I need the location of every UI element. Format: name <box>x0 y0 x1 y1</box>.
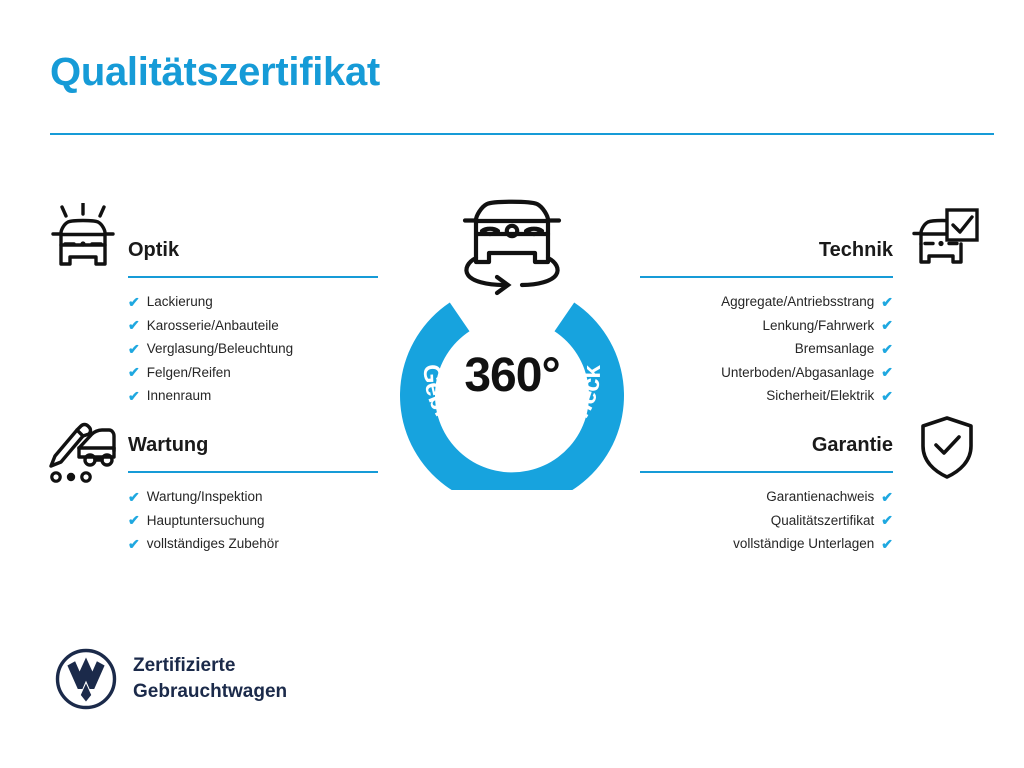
section-divider-technik <box>640 276 893 278</box>
list-item-label: Lackierung <box>147 290 213 314</box>
section-title-technik: Technik <box>640 238 893 262</box>
list-item-label: vollständige Unterlagen <box>733 532 874 556</box>
check-icon: ✔ <box>128 318 140 332</box>
page-title: Qualitätszertifikat <box>50 52 380 92</box>
check-icon: ✔ <box>881 295 893 309</box>
car-shine-icon <box>46 203 122 280</box>
list-item: ✔Garantienachweis <box>640 485 893 509</box>
check-icon: ✔ <box>881 513 893 527</box>
list-item: ✔Aggregate/Antriebsstrang <box>640 290 893 314</box>
list-item-label: Karosserie/Anbauteile <box>147 314 279 338</box>
check-icon: ✔ <box>128 365 140 379</box>
checklist-optik: ✔Lackierung ✔Karosserie/Anbauteile ✔Verg… <box>128 290 378 408</box>
volkswagen-logo <box>55 648 117 710</box>
section-divider-wartung <box>128 471 378 473</box>
check-icon: ✔ <box>128 513 140 527</box>
list-item: ✔Verglasung/Beleuchtung <box>128 337 378 361</box>
check-icon: ✔ <box>881 537 893 551</box>
check-icon: ✔ <box>128 537 140 551</box>
list-item: ✔Karosserie/Anbauteile <box>128 314 378 338</box>
section-garantie: Garantie ✔Garantienachweis ✔Qualitätszer… <box>640 433 893 556</box>
check-icon: ✔ <box>128 295 140 309</box>
shield-check-icon <box>918 415 976 486</box>
check-icon: ✔ <box>881 490 893 504</box>
list-item-label: Innenraum <box>147 384 212 408</box>
footer-line-1: Zertifizierte <box>133 653 287 679</box>
badge-center-label: 360° <box>378 348 646 403</box>
list-item: ✔Hauptuntersuchung <box>128 509 378 533</box>
list-item-label: Aggregate/Antriebsstrang <box>721 290 874 314</box>
section-title-wartung: Wartung <box>128 433 378 457</box>
list-item: ✔Innenraum <box>128 384 378 408</box>
section-divider-optik <box>128 276 378 278</box>
section-header-garantie: Garantie <box>640 433 893 473</box>
title-divider <box>50 133 994 135</box>
list-item-label: Verglasung/Beleuchtung <box>147 337 293 361</box>
pencil-car-service-icon <box>46 418 122 489</box>
checklist-technik: ✔Aggregate/Antriebsstrang ✔Lenkung/Fahrw… <box>640 290 893 408</box>
badge-360-gebrauchtwagen-check: Gebrauchtwagen-Check 360° <box>378 190 646 490</box>
list-item-label: vollständiges Zubehör <box>147 532 279 556</box>
check-icon: ✔ <box>881 365 893 379</box>
list-item-label: Wartung/Inspektion <box>147 485 263 509</box>
list-item-label: Sicherheit/Elektrik <box>766 384 874 408</box>
footer-brand: Zertifizierte Gebrauchtwagen <box>55 648 287 710</box>
section-title-garantie: Garantie <box>640 433 893 457</box>
check-icon: ✔ <box>881 342 893 356</box>
list-item-label: Hauptuntersuchung <box>147 509 265 533</box>
list-item-label: Unterboden/Abgasanlage <box>721 361 874 385</box>
list-item: ✔vollständige Unterlagen <box>640 532 893 556</box>
section-header-optik: Optik <box>128 238 378 278</box>
list-item: ✔Bremsanlage <box>640 337 893 361</box>
check-icon: ✔ <box>881 389 893 403</box>
list-item-label: Felgen/Reifen <box>147 361 231 385</box>
check-icon: ✔ <box>128 342 140 356</box>
section-header-wartung: Wartung <box>128 433 378 473</box>
list-item: ✔Wartung/Inspektion <box>128 485 378 509</box>
check-icon: ✔ <box>881 318 893 332</box>
car-checkbox-icon <box>908 208 980 281</box>
list-item: ✔Felgen/Reifen <box>128 361 378 385</box>
list-item: ✔vollständiges Zubehör <box>128 532 378 556</box>
list-item-label: Garantienachweis <box>766 485 874 509</box>
footer-brand-text: Zertifizierte Gebrauchtwagen <box>133 653 287 705</box>
list-item: ✔Sicherheit/Elektrik <box>640 384 893 408</box>
check-icon: ✔ <box>128 490 140 504</box>
list-item-label: Qualitätszertifikat <box>771 509 875 533</box>
section-wartung: Wartung ✔Wartung/Inspektion ✔Hauptunters… <box>128 433 378 556</box>
list-item: ✔Lackierung <box>128 290 378 314</box>
checklist-garantie: ✔Garantienachweis ✔Qualitätszertifikat ✔… <box>640 485 893 556</box>
footer-line-2: Gebrauchtwagen <box>133 679 287 705</box>
list-item: ✔Qualitätszertifikat <box>640 509 893 533</box>
check-icon: ✔ <box>128 389 140 403</box>
checklist-wartung: ✔Wartung/Inspektion ✔Hauptuntersuchung ✔… <box>128 485 378 556</box>
section-header-technik: Technik <box>640 238 893 278</box>
car-front-rotate-icon <box>452 190 572 298</box>
list-item-label: Lenkung/Fahrwerk <box>762 314 874 338</box>
section-divider-garantie <box>640 471 893 473</box>
list-item-label: Bremsanlage <box>795 337 875 361</box>
section-optik: Optik ✔Lackierung ✔Karosserie/Anbauteile… <box>128 238 378 408</box>
list-item: ✔Unterboden/Abgasanlage <box>640 361 893 385</box>
section-technik: Technik ✔Aggregate/Antriebsstrang ✔Lenku… <box>640 238 893 408</box>
list-item: ✔Lenkung/Fahrwerk <box>640 314 893 338</box>
section-title-optik: Optik <box>128 238 378 262</box>
